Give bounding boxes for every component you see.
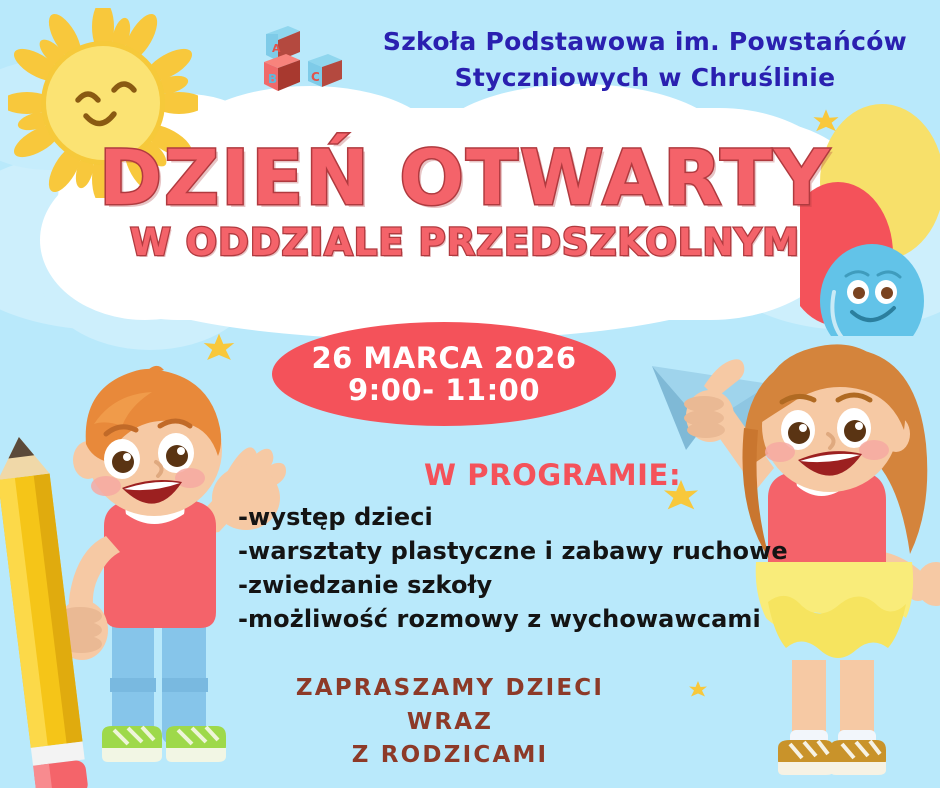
program-item: -występ dzieci <box>238 500 818 534</box>
event-date: 26 MARCA 2026 <box>311 343 576 373</box>
svg-text:C: C <box>311 70 320 84</box>
invitation-line2: WRAZ <box>240 706 660 740</box>
invitation-line1: ZAPRASZAMY DZIECI <box>240 672 660 706</box>
program-heading: W PROGRAMIE: <box>424 458 681 492</box>
school-name-line2: Styczniowych w Chruślinie <box>360 60 930 96</box>
headline-sub: W ODDZIALE PRZEDSZKOLNYM <box>70 224 860 261</box>
date-time-badge: 26 MARCA 2026 9:00- 11:00 <box>272 322 616 426</box>
abc-blocks-icon: A B C <box>256 22 356 98</box>
school-name: Szkoła Podstawowa im. Powstańców Styczni… <box>360 24 930 95</box>
invitation-block: ZAPRASZAMY DZIECI WRAZ Z RODZICAMI <box>240 672 660 773</box>
page-title: DZIEŃ OTWARTY W ODDZIALE PRZEDSZKOLNYM <box>70 140 860 261</box>
program-list: -występ dzieci -warsztaty plastyczne i z… <box>238 500 818 636</box>
invitation-line3: Z RODZICAMI <box>240 739 660 773</box>
svg-text:B: B <box>268 72 277 86</box>
headline-main: DZIEŃ OTWARTY <box>70 140 860 216</box>
svg-text:A: A <box>272 42 281 55</box>
program-item: -warsztaty plastyczne i zabawy ruchowe <box>238 534 818 568</box>
event-time: 9:00- 11:00 <box>348 375 540 405</box>
school-name-line1: Szkoła Podstawowa im. Powstańców <box>360 24 930 60</box>
program-item: -możliwość rozmowy z wychowawcami <box>238 602 818 636</box>
poster-canvas: A B C <box>0 0 940 788</box>
program-item: -zwiedzanie szkoły <box>238 568 818 602</box>
